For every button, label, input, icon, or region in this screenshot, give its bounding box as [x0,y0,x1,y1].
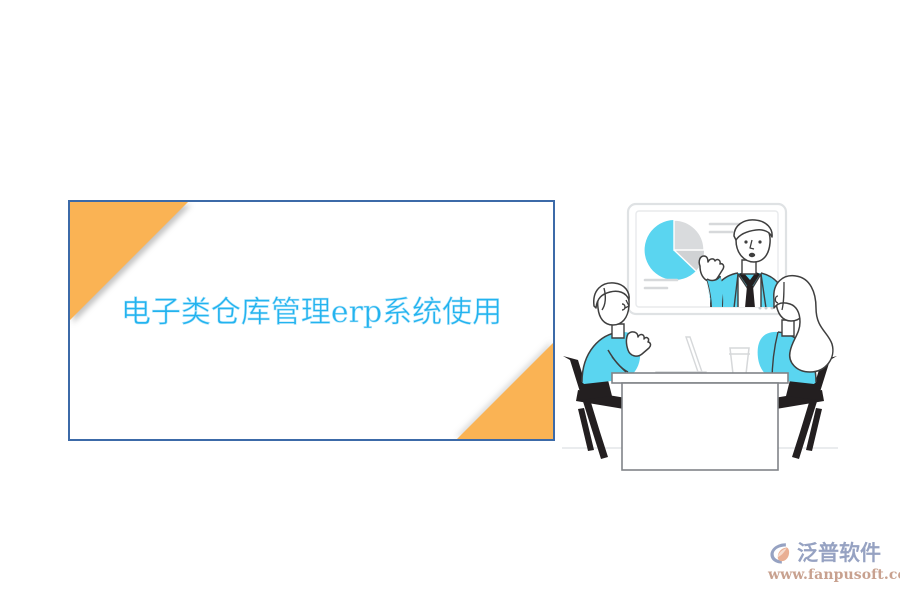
watermark: 泛普软件 www.fanpusoft.com [768,538,896,590]
fanpu-logo-icon [768,540,794,566]
drinking-glass [729,348,750,374]
video-conference-illustration [560,182,860,482]
corner-triangle-bottom-right-icon [457,343,553,439]
pie-chart-on-screen [645,220,704,280]
desk [612,373,788,470]
watermark-brand: 泛普软件 [797,540,881,566]
laptop [656,337,706,376]
title-card: 电子类仓库管理erp系统使用 [68,200,555,441]
wall-screen [628,204,786,314]
watermark-url: www.fanpusoft.com [768,567,896,583]
page-title: 电子类仓库管理erp系统使用 [70,294,553,332]
